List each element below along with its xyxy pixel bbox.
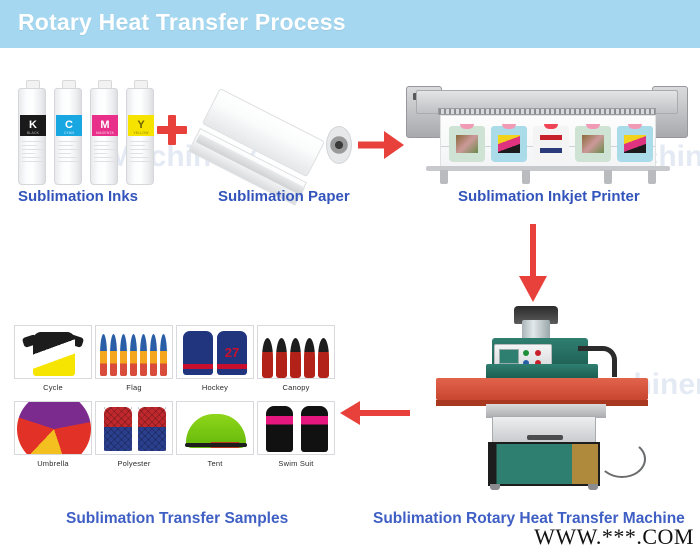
bottle-body: M MAGENTA: [90, 88, 118, 185]
bottle-label-lines: [94, 141, 116, 177]
bottle-color-band: K BLACK: [20, 115, 46, 136]
ink-letter: C: [65, 120, 73, 131]
infographic-page: Rotary Heat Transfer Process Machinery M…: [0, 0, 700, 560]
printer-media: [440, 115, 656, 167]
ink-bottle-cyan: C CYAN: [54, 80, 82, 185]
bottle-label-lines: [58, 141, 80, 177]
sample-thumbnail: [95, 401, 173, 455]
press-lower-platen: [436, 378, 648, 400]
ink-bottle-yellow: Y YELLOW: [126, 80, 154, 185]
paper-roll-core-icon: [326, 126, 352, 164]
sample-thumbnail: [95, 325, 173, 379]
ink-letter: K: [29, 120, 37, 131]
press-foot: [490, 484, 500, 490]
arrow-left-icon: [340, 401, 410, 425]
sample-caption: Canopy: [257, 383, 335, 392]
press-drawer[interactable]: [492, 416, 596, 444]
printer-leg: [522, 170, 530, 184]
sample-thumbnail: [14, 325, 92, 379]
sample-caption: Tent: [176, 459, 254, 468]
press-display[interactable]: [499, 349, 519, 364]
rotary-heat-transfer-machine-image: [430, 300, 680, 490]
sample-hockey: 27 Hockey: [176, 325, 254, 392]
press-button-green[interactable]: [523, 350, 529, 356]
arrow-right-icon: [358, 131, 404, 159]
press-cabinet[interactable]: [488, 442, 600, 486]
printer-carriage-rail: [438, 108, 656, 115]
sample-caption: Polyester: [95, 459, 173, 468]
sample-thumbnail: [14, 401, 92, 455]
printer-leg: [648, 170, 656, 184]
ink-name: BLACK: [20, 131, 46, 135]
sample-thumbnail: [257, 401, 335, 455]
printer-leg: [440, 170, 448, 184]
bottle-color-band: Y YELLOW: [128, 115, 154, 136]
press-button-red[interactable]: [535, 350, 541, 356]
sublimation-paper-image: [196, 82, 356, 187]
drawer-handle[interactable]: [527, 435, 563, 440]
ink-bottle-magenta: M MAGENTA: [90, 80, 118, 185]
bottle-body: K BLACK: [18, 88, 46, 185]
press-foot: [588, 484, 598, 490]
sample-thumbnail: [257, 325, 335, 379]
sample-thumbnail: 27: [176, 325, 254, 379]
sample-flag: Flag: [95, 325, 173, 392]
website-url: WWW.***.COM: [534, 524, 694, 550]
label-sublimation-printer: Sublimation Inkjet Printer: [458, 188, 640, 205]
ink-name: YELLOW: [128, 131, 154, 135]
sublimation-inks-image: K BLACK C CYAN M MAGENTA: [18, 80, 154, 185]
bottle-label-lines: [22, 141, 44, 177]
ink-letter: Y: [137, 120, 144, 131]
label-sublimation-paper: Sublimation Paper: [218, 188, 350, 205]
printed-shirt: [617, 122, 653, 162]
sublimation-inkjet-printer-image: [404, 82, 690, 186]
printer-base-bar: [426, 166, 670, 171]
bottle-label-lines: [130, 141, 152, 177]
plus-icon: [157, 115, 187, 145]
sample-caption: Hockey: [176, 383, 254, 392]
ink-letter: M: [100, 120, 109, 131]
sample-caption: Swim Suit: [257, 459, 335, 468]
printed-shirt: [533, 122, 569, 162]
sample-umbrella: Umbrella: [14, 401, 92, 468]
sample-tent: Tent: [176, 401, 254, 468]
bottle-body: C CYAN: [54, 88, 82, 185]
printed-shirt: [491, 122, 527, 162]
ink-name: CYAN: [56, 131, 82, 135]
bottle-color-band: C CYAN: [56, 115, 82, 136]
sample-caption: Cycle: [14, 383, 92, 392]
samples-grid: Cycle Flag 27 Hockey Canopy: [14, 325, 334, 475]
sample-polyester: Polyester: [95, 401, 173, 468]
sample-caption: Flag: [95, 383, 173, 392]
sample-canopy: Canopy: [257, 325, 335, 392]
printed-shirt: [449, 122, 485, 162]
bottle-color-band: M MAGENTA: [92, 115, 118, 136]
printer-leg: [604, 170, 612, 184]
ink-name: MAGENTA: [92, 131, 118, 135]
sample-caption: Umbrella: [14, 459, 92, 468]
label-sublimation-inks: Sublimation Inks: [18, 188, 138, 205]
arrow-down-icon: [519, 224, 547, 302]
ink-bottle-black: K BLACK: [18, 80, 46, 185]
sample-thumbnail: [176, 401, 254, 455]
label-transfer-samples: Sublimation Transfer Samples: [66, 510, 288, 528]
press-power-cord: [598, 440, 646, 478]
printed-shirt: [575, 122, 611, 162]
sample-swim-suit: Swim Suit: [257, 401, 335, 468]
sample-cycle: Cycle: [14, 325, 92, 392]
jersey-number: 27: [217, 345, 247, 360]
page-title: Rotary Heat Transfer Process: [18, 9, 346, 36]
bottle-body: Y YELLOW: [126, 88, 154, 185]
